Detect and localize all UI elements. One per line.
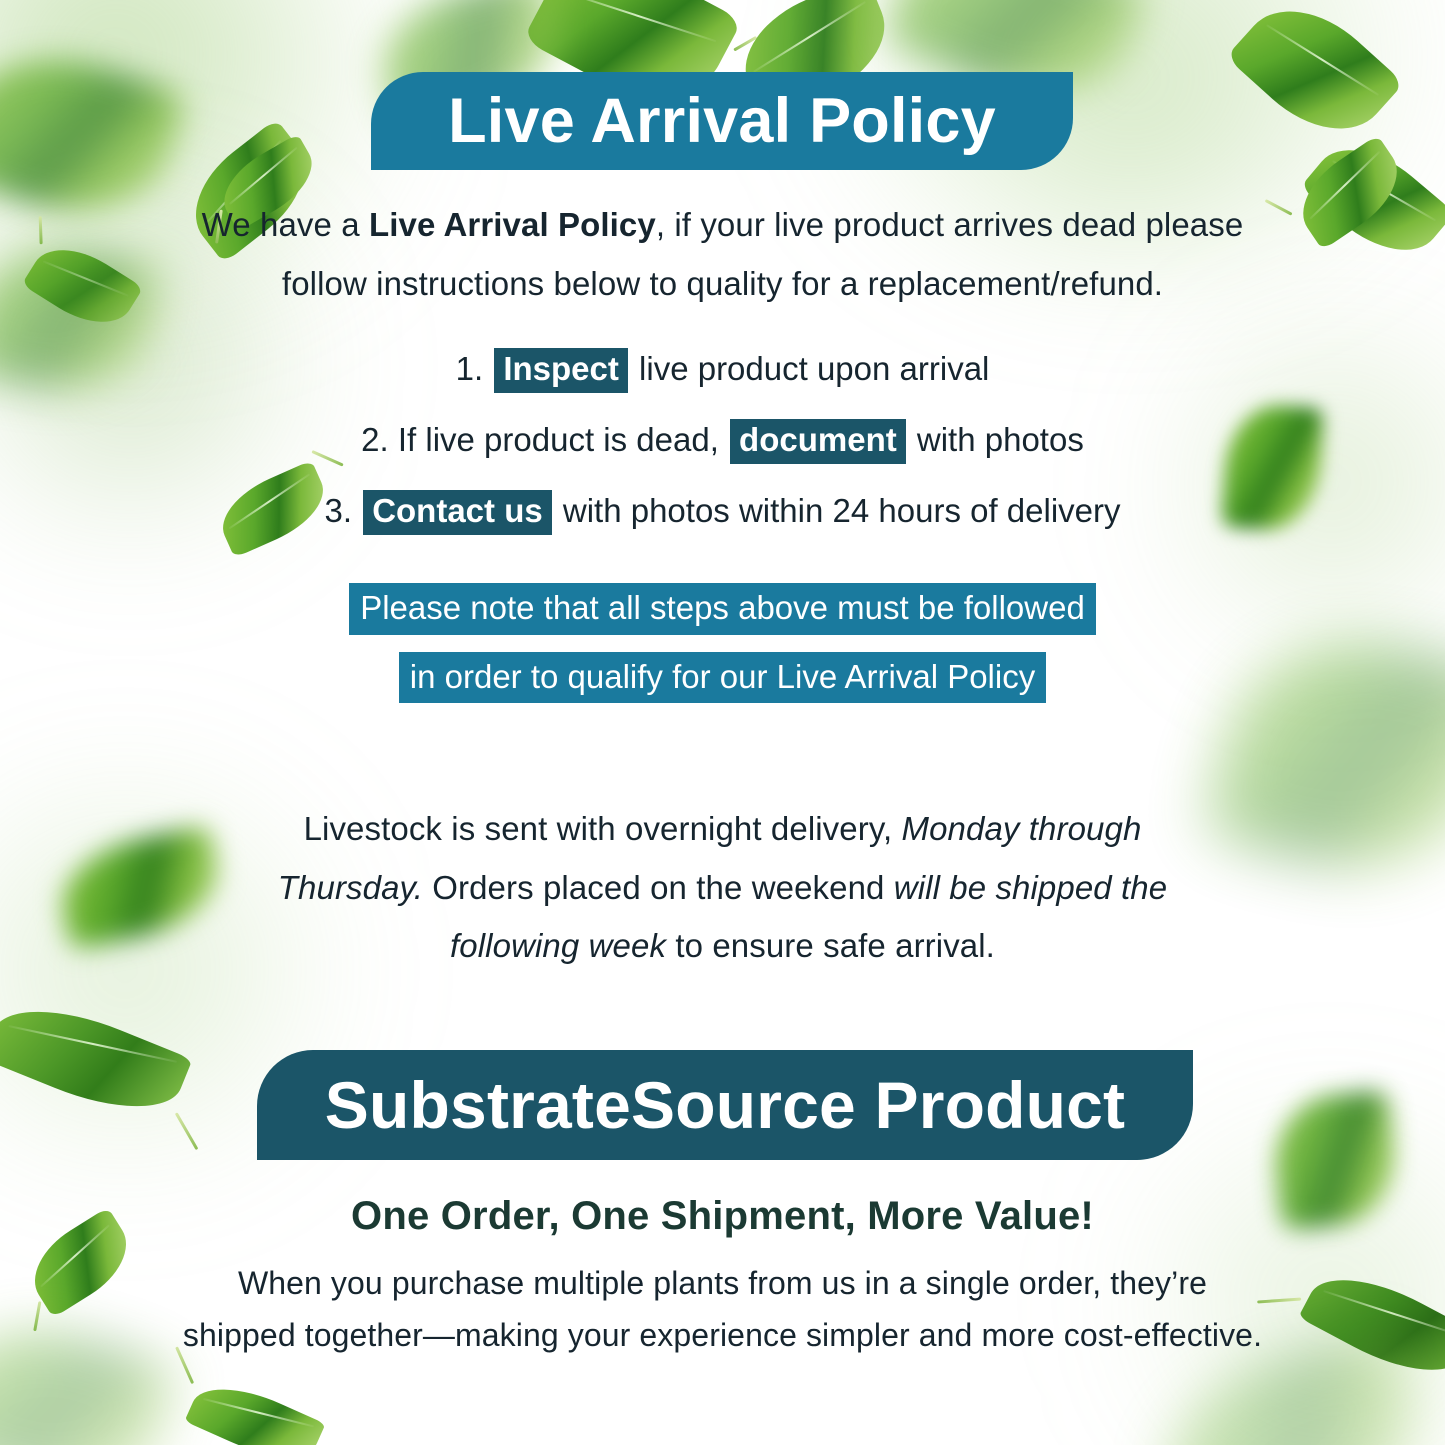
list-item: 1. Inspect live product upon arrival — [180, 348, 1265, 393]
step-text: live product upon arrival — [639, 350, 989, 387]
intro-paragraph: We have a Live Arrival Policy, if your l… — [165, 196, 1280, 313]
policy-note-block: Please note that all steps above must be… — [180, 583, 1265, 720]
step-text: with photos — [917, 421, 1084, 458]
shipping-line2-plain: Orders placed on the weekend — [432, 869, 894, 906]
shipping-line3-plain: to ensure safe arrival. — [675, 927, 995, 964]
value-proposition-paragraph: When you purchase multiple plants from u… — [180, 1258, 1265, 1362]
intro-prefix: We have a — [202, 206, 369, 243]
substratesource-product-banner: SubstrateSource Product — [257, 1050, 1193, 1160]
list-item: 2. If live product is dead, document wit… — [180, 419, 1265, 464]
note-line-2: in order to qualify for our Live Arrival… — [399, 652, 1046, 704]
step-number: 1. — [456, 350, 484, 387]
step-highlight-document: document — [730, 419, 906, 464]
list-item: 3. Contact us with photos within 24 hour… — [180, 490, 1265, 535]
step-highlight-inspect: Inspect — [494, 348, 628, 393]
value-proposition-heading: One Order, One Shipment, More Value! — [180, 1194, 1265, 1239]
live-arrival-policy-banner: Live Arrival Policy — [371, 72, 1073, 170]
step-number: 3. — [324, 492, 352, 529]
note-row: Please note that all steps above must be… — [180, 583, 1265, 635]
policy-steps-list: 1. Inspect live product upon arrival 2. … — [180, 348, 1265, 561]
step-text-before: If live product is dead, — [398, 421, 719, 458]
step-number: 2. — [361, 421, 389, 458]
step-text: with photos within 24 hours of delivery — [563, 492, 1121, 529]
note-row: in order to qualify for our Live Arrival… — [180, 652, 1265, 704]
intro-bold-phrase: Live Arrival Policy — [369, 206, 656, 243]
step-highlight-contact-us[interactable]: Contact us — [363, 490, 552, 535]
policy-page: Live Arrival Policy We have a Live Arriv… — [0, 0, 1445, 1445]
note-line-1: Please note that all steps above must be… — [349, 583, 1096, 635]
livestock-shipping-paragraph: Livestock is sent with overnight deliver… — [230, 800, 1215, 976]
shipping-line1-plain: Livestock is sent with overnight deliver… — [304, 810, 902, 847]
